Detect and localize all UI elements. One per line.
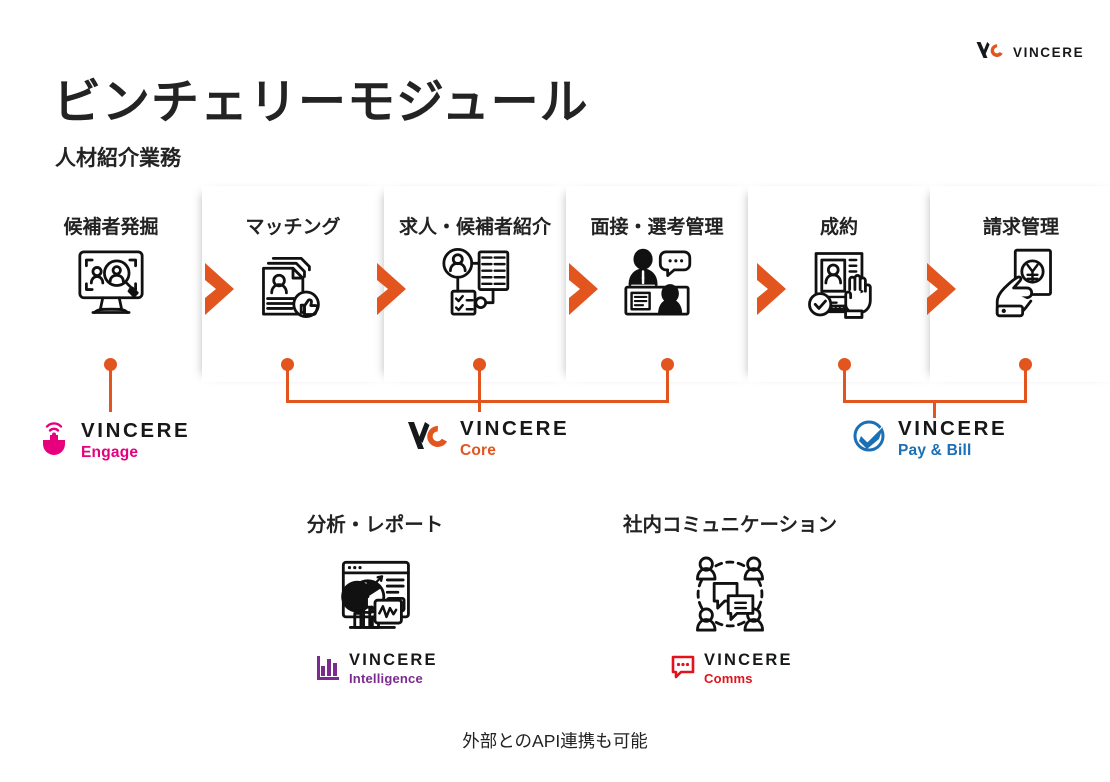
chevron-right-arrow-icon-5 <box>925 262 959 316</box>
slide-canvas: VINCERE ビンチェリーモジュール 人材紹介業務 候補者発掘 <box>0 0 1110 782</box>
product-logo-paybill-sub: Pay & Bill <box>898 443 1007 460</box>
product-logo-engage-name: VINCERE <box>81 420 190 442</box>
product-logo-core[interactable]: VINCERE Core <box>405 418 569 460</box>
chevron-right-arrow-icon-4 <box>755 262 789 316</box>
connector-line-paybill-bar <box>843 400 1027 403</box>
hand-invoice-yen-icon <box>978 242 1064 324</box>
product-logo-engage-sub: Engage <box>81 445 190 462</box>
product-logo-core-name: VINCERE <box>460 418 569 440</box>
product-logo-core-sub: Core <box>460 443 569 460</box>
vincere-vo-logo-icon <box>405 419 449 458</box>
product-logo-comms-sub: Comms <box>704 671 753 686</box>
candidate-job-matching-list-icon <box>432 242 518 324</box>
product-logo-paybill[interactable]: VINCERE Pay & Bill <box>851 418 1007 460</box>
analytics-dashboard-chart-icon <box>331 550 419 638</box>
contract-signed-approval-icon <box>796 242 882 324</box>
pipeline-stage-5-label: 成約 <box>748 212 930 239</box>
product-logo-engage[interactable]: VINCERE Engage <box>38 418 190 463</box>
pipeline-stage-2-label: マッチング <box>202 212 384 239</box>
page-subtitle: 人材紹介業務 <box>55 142 181 172</box>
team-chat-network-icon <box>686 550 774 638</box>
connector-line-paybill-stem <box>933 400 936 418</box>
pipeline-stage-1-label: 候補者発掘 <box>20 212 202 239</box>
pipeline-stage-1[interactable]: 候補者発掘 <box>20 186 202 382</box>
chevron-right-arrow-icon-2 <box>375 262 409 316</box>
product-logo-intelligence-sub: Intelligence <box>349 671 423 686</box>
chat-bubble-dots-icon <box>670 654 696 685</box>
magnet-signal-icon <box>38 418 70 463</box>
vincere-brandmark: VINCERE <box>975 40 1084 65</box>
resume-thumbs-up-icon <box>250 242 336 324</box>
pipeline-stage-6-label: 請求管理 <box>930 212 1110 239</box>
bar-chart-square-icon <box>315 654 341 685</box>
circle-check-icon <box>851 418 887 459</box>
monitor-candidate-search-icon <box>68 242 154 324</box>
product-logo-comms[interactable]: VINCERE Comms <box>670 651 840 688</box>
product-logo-paybill-name: VINCERE <box>898 418 1007 440</box>
pipeline-stage-3-label: 求人・候補者紹介 <box>384 212 566 239</box>
brandmark-wordmark: VINCERE <box>1013 45 1084 60</box>
product-logo-comms-name: VINCERE <box>704 651 793 669</box>
chevron-right-arrow-icon-1 <box>203 262 237 316</box>
pipeline-stage-4-label: 面接・選考管理 <box>566 212 748 239</box>
pipeline-stage-3[interactable]: 求人・候補者紹介 <box>384 186 566 382</box>
vincere-vo-logo-icon <box>975 40 1005 65</box>
module-communication-title: 社内コミュニケーション <box>623 508 837 537</box>
module-analytics[interactable]: 分析・レポート <box>265 508 485 698</box>
page-title: ビンチェリーモジュール <box>53 62 589 132</box>
module-analytics-title: 分析・レポート <box>307 508 444 537</box>
interview-meeting-icon <box>614 242 700 324</box>
connector-line-core-bar <box>286 400 669 403</box>
footer-note: 外部とのAPI連携も可能 <box>0 728 1110 753</box>
product-logo-intelligence[interactable]: VINCERE Intelligence <box>315 651 485 688</box>
chevron-right-arrow-icon-3 <box>567 262 601 316</box>
module-internal-communication[interactable]: 社内コミュニケーション <box>620 508 840 698</box>
product-logo-intelligence-name: VINCERE <box>349 651 438 669</box>
